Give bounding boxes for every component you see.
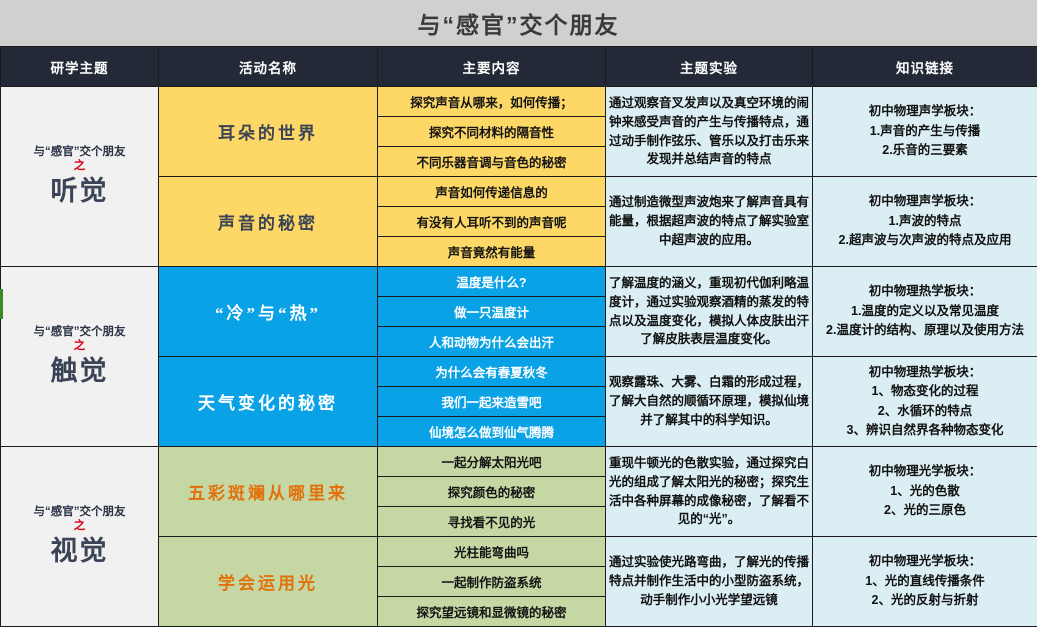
research-plan-table: 研学主题 活动名称 主要内容 主题实验 知识链接 与“感官”交个朋友之听觉耳朵的… (0, 46, 1037, 627)
content-item-cell: 人和动物为什么会出汗 (378, 327, 606, 357)
knowledge-link-line: 1.温度的定义以及常见温度 (813, 302, 1037, 321)
topic-inner: 与“感官”交个朋友之触觉 (1, 326, 158, 386)
content-item-cell: 我们一起来造雪吧 (378, 387, 606, 417)
topic-connector: 之 (74, 160, 86, 173)
experiment-cell: 重现牛顿光的色散实验，通过探究白光的组成了解太阳光的秘密；探究生活中各种屏幕的成… (606, 447, 813, 537)
table-row: 与“感官”交个朋友之听觉耳朵的世界探究声音从哪来，如何传播；通过观察音叉发声以及… (1, 87, 1037, 117)
topic-prefix: 与“感官”交个朋友 (34, 326, 126, 339)
activity-name-cell: 耳朵的世界 (159, 87, 378, 177)
knowledge-link-line: 2、水循环的特点 (813, 402, 1037, 421)
content-item-cell: 有没有人耳听不到的声音呢 (378, 207, 606, 237)
topic-prefix: 与“感官”交个朋友 (34, 146, 126, 159)
column-header-content: 主要内容 (378, 47, 606, 87)
activity-name-cell: 天气变化的秘密 (159, 357, 378, 447)
knowledge-link-line: 1.声波的特点 (813, 212, 1037, 231)
topic-name: 听觉 (51, 176, 109, 207)
knowledge-link-line: 初中物理声学板块： (813, 192, 1037, 211)
knowledge-link-line: 初中物理热学板块： (813, 363, 1037, 382)
activity-name-cell: 五彩斑斓从哪里来 (159, 447, 378, 537)
content-item-cell: 温度是什么? (378, 267, 606, 297)
column-header-topic: 研学主题 (1, 47, 159, 87)
content-item-cell: 做一只温度计 (378, 297, 606, 327)
knowledge-link-cell: 初中物理光学板块：1、光的色散2、光的三原色 (813, 447, 1037, 537)
knowledge-link-line: 初中物理声学板块： (813, 102, 1037, 121)
content-item-cell: 声音竟然有能量 (378, 237, 606, 267)
content-item-cell: 探究不同材料的隔音性 (378, 117, 606, 147)
activity-name-cell: “冷”与“热” (159, 267, 378, 357)
knowledge-link-line: 2.温度计的结构、原理以及使用方法 (813, 321, 1037, 340)
content-item-cell: 探究颜色的秘密 (378, 477, 606, 507)
content-item-cell: 为什么会有春夏秋冬 (378, 357, 606, 387)
table-row: 与“感官”交个朋友之视觉五彩斑斓从哪里来一起分解太阳光吧重现牛顿光的色散实验，通… (1, 447, 1037, 477)
knowledge-link-cell: 初中物理光学板块：1、光的直线传播条件2、光的反射与折射 (813, 537, 1037, 627)
knowledge-link-line: 初中物理热学板块： (813, 282, 1037, 301)
topic-cell-touch: 与“感官”交个朋友之触觉 (1, 267, 159, 447)
topic-connector: 之 (74, 340, 86, 353)
column-header-link: 知识链接 (813, 47, 1037, 87)
header-row: 研学主题 活动名称 主要内容 主题实验 知识链接 (1, 47, 1037, 87)
knowledge-link-line: 初中物理光学板块： (813, 462, 1037, 481)
column-header-activity: 活动名称 (159, 47, 378, 87)
topic-inner: 与“感官”交个朋友之视觉 (1, 506, 158, 566)
content-item-cell: 探究望远镜和显微镜的秘密 (378, 597, 606, 627)
knowledge-link-line: 1、光的直线传播条件 (813, 572, 1037, 591)
topic-cell-sight: 与“感官”交个朋友之视觉 (1, 447, 159, 627)
content-item-cell: 仙境怎么做到仙气腾腾 (378, 417, 606, 447)
topic-name: 视觉 (51, 536, 109, 567)
topic-prefix: 与“感官”交个朋友 (34, 506, 126, 519)
table-header: 研学主题 活动名称 主要内容 主题实验 知识链接 (1, 47, 1037, 87)
page-title: 与“感官”交个朋友 (418, 6, 620, 40)
knowledge-link-line: 1、光的色散 (813, 482, 1037, 501)
content-item-cell: 探究声音从哪来，如何传播； (378, 87, 606, 117)
knowledge-link-line: 初中物理光学板块： (813, 552, 1037, 571)
knowledge-link-line: 1、物态变化的过程 (813, 382, 1037, 401)
content-item-cell: 一起制作防盗系统 (378, 567, 606, 597)
experiment-cell: 观察露珠、大雾、白霜的形成过程，了解大自然的顺循环原理，模拟仙境并了解其中的科学… (606, 357, 813, 447)
research-plan-page: 与“感官”交个朋友 研学主题 活动名称 主要内容 主题实验 知识链接 与“感官”… (0, 0, 1037, 593)
content-item-cell: 声音如何传递信息的 (378, 177, 606, 207)
knowledge-link-cell: 初中物理热学板块：1、物态变化的过程2、水循环的特点3、辨识自然界各种物态变化 (813, 357, 1037, 447)
content-item-cell: 不同乐器音调与音色的秘密 (378, 147, 606, 177)
knowledge-link-line: 1.声音的产生与传播 (813, 122, 1037, 141)
knowledge-link-cell: 初中物理声学板块：1.声波的特点2.超声波与次声波的特点及应用 (813, 177, 1037, 267)
topic-connector: 之 (74, 520, 86, 533)
activity-name-cell: 学会运用光 (159, 537, 378, 627)
knowledge-link-cell: 初中物理热学板块：1.温度的定义以及常见温度2.温度计的结构、原理以及使用方法 (813, 267, 1037, 357)
content-item-cell: 光柱能弯曲吗 (378, 537, 606, 567)
knowledge-link-line: 2、光的反射与折射 (813, 591, 1037, 610)
column-header-experiment: 主题实验 (606, 47, 813, 87)
activity-name-cell: 声音的秘密 (159, 177, 378, 267)
knowledge-link-line: 2.超声波与次声波的特点及应用 (813, 231, 1037, 250)
topic-name: 触觉 (51, 356, 109, 387)
content-item-cell: 一起分解太阳光吧 (378, 447, 606, 477)
content-item-cell: 寻找看不见的光 (378, 507, 606, 537)
topic-inner: 与“感官”交个朋友之听觉 (1, 146, 158, 206)
knowledge-link-cell: 初中物理声学板块：1.声音的产生与传播2.乐音的三要素 (813, 87, 1037, 177)
knowledge-link-line: 2、光的三原色 (813, 501, 1037, 520)
topic-cell-hearing: 与“感官”交个朋友之听觉 (1, 87, 159, 267)
table-body: 与“感官”交个朋友之听觉耳朵的世界探究声音从哪来，如何传播；通过观察音叉发声以及… (1, 87, 1037, 627)
green-edge-marker (0, 289, 3, 319)
experiment-cell: 通过实验使光路弯曲，了解光的传播特点并制作生活中的小型防盗系统，动手制作小小光学… (606, 537, 813, 627)
experiment-cell: 了解温度的涵义，重现初代伽利略温度计，通过实验观察酒精的蒸发的特点以及温度变化，… (606, 267, 813, 357)
knowledge-link-line: 3、辨识自然界各种物态变化 (813, 421, 1037, 440)
table-row: 与“感官”交个朋友之触觉“冷”与“热”温度是什么?了解温度的涵义，重现初代伽利略… (1, 267, 1037, 297)
experiment-cell: 通过观察音叉发声以及真空环境的闹钟来感受声音的产生与传播特点，通过动手制作弦乐、… (606, 87, 813, 177)
knowledge-link-line: 2.乐音的三要素 (813, 141, 1037, 160)
page-title-bar: 与“感官”交个朋友 (0, 0, 1037, 46)
experiment-cell: 通过制造微型声波炮来了解声音具有能量，根据超声波的特点了解实验室中超声波的应用。 (606, 177, 813, 267)
